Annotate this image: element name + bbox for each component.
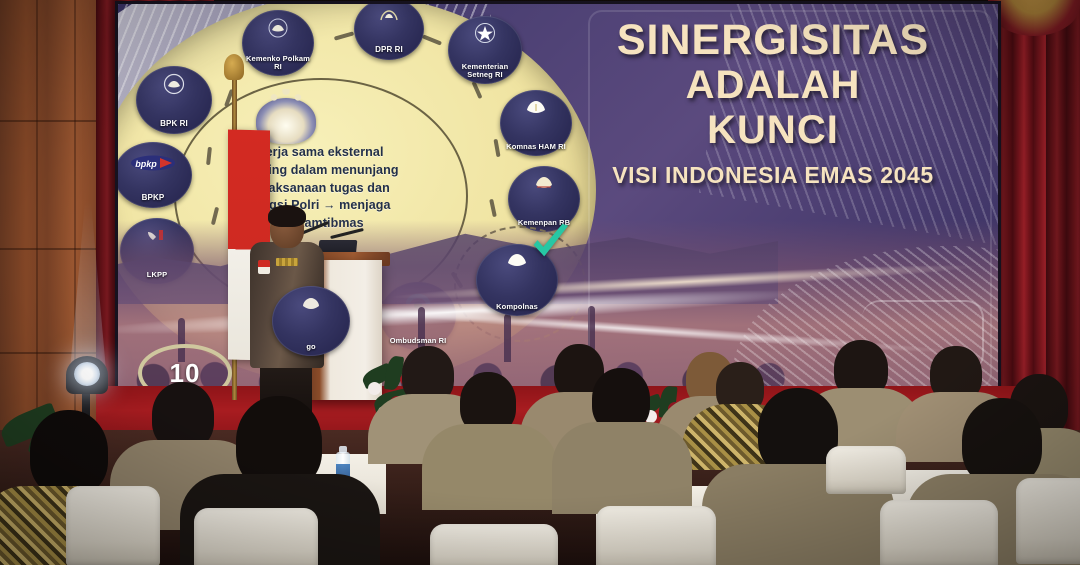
diagram-node-dpr-ri[interactable]: DPR RI [354,4,424,60]
connector [489,199,497,217]
chair [66,486,160,565]
node-label: Kompolnas [494,303,540,311]
diagram-node-bpk-ri[interactable]: BPK RI [136,66,212,134]
diagram-node-kementerian-setneg-ri[interactable]: Kementerian Setneg RI [448,16,522,84]
chair [194,508,318,565]
chair [596,506,716,565]
diagram-node-kemenko-polkam-ri[interactable]: Kemenko Polkam RI [242,10,314,76]
connector [422,34,442,45]
audience-shoulders [422,424,558,510]
komnas-ham-logo-icon [522,97,550,119]
bpk-ri-logo-icon [160,73,188,95]
speaker-medal-ribbons-icon [276,258,298,266]
node-label: Ombudsman RI [388,337,449,345]
slide-headline-block: SINERGISITAS ADALAH KUNCI VISI INDONESIA… [548,18,998,189]
speaker-hair [268,205,306,227]
screenshot-root: Kerja sama eksternal penting dalam menun… [0,0,1080,565]
chair [826,446,906,494]
kemenko-polkam-logo-icon [264,17,292,39]
audience-head-front-left [30,410,108,496]
chair [1016,478,1080,564]
chair [430,524,558,565]
chair [880,500,998,565]
audience-head-front-right [962,398,1042,486]
node-label: Kemenko Polkam RI [242,55,314,71]
speaker-flag-patch-icon [258,260,270,274]
node-label: DPR RI [373,46,405,55]
kompolnas-checkmark-icon [526,220,572,266]
spotlight-lens-icon [74,362,100,386]
node-label: go [304,343,317,351]
diagram-node-hidden-behind-podium[interactable]: go [272,286,350,356]
audience-shoulders [552,422,692,514]
connector [493,139,500,157]
bpkp-logo-icon: bpkp [130,152,176,174]
headline-line-2: ADALAH [548,63,998,108]
dpr-ri-logo-icon [375,5,403,27]
headline-line-1: SINERGISITAS [548,18,998,63]
node-label: LKPP [145,271,169,279]
headline-line-3: KUNCI [548,108,998,153]
connector [334,31,354,40]
partial-logo-icon [297,293,325,315]
node-label: Komnas HAM RI [504,143,568,151]
slide-subheadline: VISI INDONESIA EMAS 2045 [548,162,998,189]
svg-text:bpkp: bpkp [135,159,157,169]
node-label: Kementerian Setneg RI [448,63,522,79]
node-label: BPKP [140,194,167,203]
node-label: BPK RI [158,120,190,129]
setneg-star-logo-icon [471,23,499,45]
flag-finial-icon [224,54,244,80]
